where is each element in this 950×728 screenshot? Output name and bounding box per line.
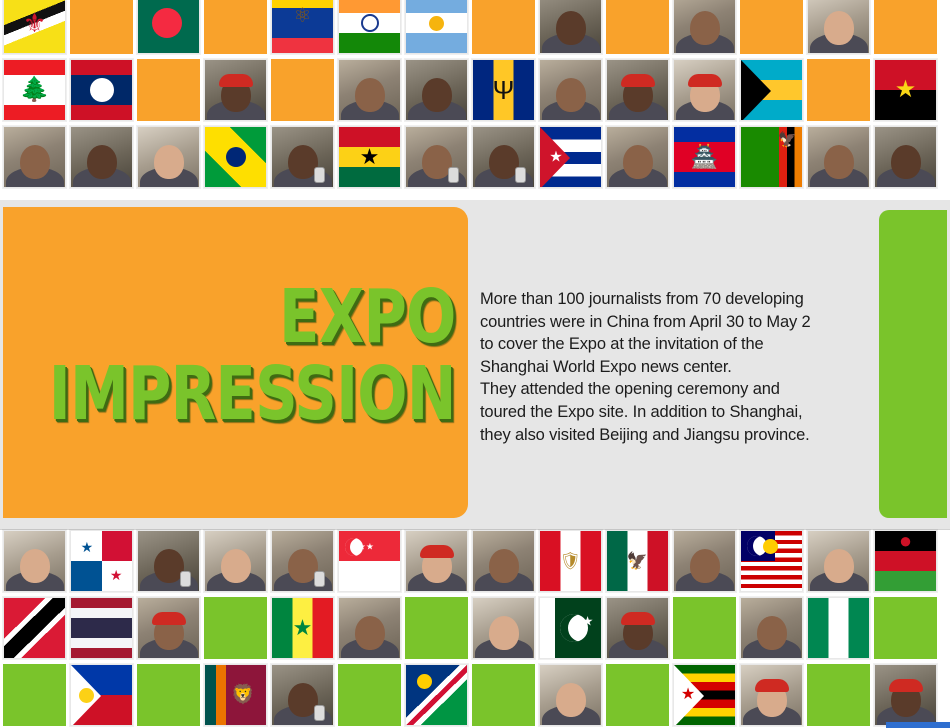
mosaic-tile-placeholder[interactable] <box>606 664 669 726</box>
flag-tile-mexico[interactable]: 🦅 <box>606 530 669 592</box>
photo-tile-journalist-portrait-cap[interactable] <box>204 59 267 121</box>
flag-tile-philippines[interactable] <box>70 664 133 726</box>
flag-tile-brazil[interactable] <box>204 126 267 188</box>
mosaic-tile-placeholder[interactable] <box>472 664 535 726</box>
flag-tile-cuba[interactable]: ★ <box>539 126 602 188</box>
banner-body-text: More than 100 journalists from 70 develo… <box>480 288 858 446</box>
flag-tile-barbados[interactable]: Ψ <box>472 59 535 121</box>
flag-tile-argentina[interactable] <box>405 0 468 54</box>
photo-tile-journalist-portrait[interactable] <box>673 530 736 592</box>
photo-tile-journalist-portrait[interactable] <box>673 0 736 54</box>
mosaic-tile-placeholder[interactable] <box>874 597 937 659</box>
body-line: More than 100 journalists from 70 develo… <box>480 288 858 311</box>
mosaic-tile-placeholder[interactable] <box>204 0 267 54</box>
flag-tile-peru[interactable]: 🛡 <box>539 530 602 592</box>
photo-tile-journalist-portrait[interactable] <box>472 597 535 659</box>
mosaic-tile-placeholder[interactable] <box>338 664 401 726</box>
photo-tile-journalist-portrait-mic[interactable] <box>271 530 334 592</box>
photo-tile-journalist-portrait-cap[interactable] <box>405 530 468 592</box>
mosaic-tile-placeholder[interactable] <box>204 597 267 659</box>
photo-tile-journalist-portrait-mic[interactable] <box>405 126 468 188</box>
photo-tile-journalist-portrait-mic[interactable] <box>472 126 535 188</box>
body-line: They attended the opening ceremony and <box>480 378 858 401</box>
photo-tile-journalist-portrait[interactable] <box>807 126 870 188</box>
body-line: toured the Expo site. In addition to Sha… <box>480 401 858 424</box>
photo-tile-journalist-portrait[interactable] <box>740 597 803 659</box>
banner-title: EXPO IMPRESSION <box>0 279 456 433</box>
photo-tile-journalist-portrait[interactable] <box>807 0 870 54</box>
photo-tile-journalist-portrait[interactable] <box>3 530 66 592</box>
photo-tile-journalist-portrait[interactable] <box>606 126 669 188</box>
flag-tile-sri-lanka[interactable]: 🦁 <box>204 664 267 726</box>
expo-banner: EXPO IMPRESSION More than 100 journalist… <box>0 200 950 530</box>
expo-impression-page: ⚜ ⚛ 🌲 Ψ <box>0 0 950 728</box>
banner-title-line-impression: IMPRESSION <box>49 355 456 433</box>
photo-tile-journalist-portrait[interactable] <box>3 126 66 188</box>
flag-tile-laos[interactable] <box>70 59 133 121</box>
green-accent-bar <box>879 210 947 518</box>
flag-tile-ghana[interactable]: ★ <box>338 126 401 188</box>
flag-tile-thailand[interactable] <box>70 597 133 659</box>
flag-tile-bahamas[interactable] <box>740 59 803 121</box>
flag-tile-zimbabwe[interactable]: ★ <box>673 664 736 726</box>
photo-tile-journalist-portrait-mic[interactable] <box>271 126 334 188</box>
photo-tile-journalist-portrait[interactable] <box>338 597 401 659</box>
title-panel: EXPO IMPRESSION <box>3 207 468 518</box>
photo-tile-journalist-portrait-cap[interactable] <box>137 597 200 659</box>
photo-tile-journalist-portrait[interactable] <box>405 59 468 121</box>
mosaic-tile-placeholder[interactable] <box>740 0 803 54</box>
flag-tile-senegal[interactable]: ★ <box>271 597 334 659</box>
mosaic-tile-placeholder[interactable] <box>673 597 736 659</box>
photo-tile-journalist-portrait[interactable] <box>204 530 267 592</box>
flag-tile-brunei[interactable]: ⚜ <box>3 0 66 54</box>
photo-tile-journalist-portrait-cap[interactable] <box>606 59 669 121</box>
photo-tile-journalist-portrait[interactable] <box>137 126 200 188</box>
photo-tile-journalist-portrait-mic[interactable] <box>271 664 334 726</box>
flag-tile-trinidad-and-tobago[interactable] <box>3 597 66 659</box>
photo-tile-journalist-portrait[interactable] <box>539 59 602 121</box>
mosaic-tile-placeholder[interactable] <box>137 664 200 726</box>
mosaic-tile-placeholder[interactable] <box>70 0 133 54</box>
flag-tile-namibia[interactable] <box>405 664 468 726</box>
flag-tile-pakistan[interactable]: ★ <box>539 597 602 659</box>
flag-tile-zambia[interactable]: 🦅 <box>740 126 803 188</box>
mosaic-grid-bottom: ★ ★ ★★ 🛡 🦅 <box>0 530 950 726</box>
mosaic-tile-placeholder[interactable] <box>472 0 535 54</box>
photo-tile-journalist-portrait[interactable] <box>874 126 937 188</box>
photo-tile-journalist-portrait[interactable] <box>70 126 133 188</box>
flag-tile-bangladesh[interactable] <box>137 0 200 54</box>
mosaic-grid-top: ⚜ ⚛ 🌲 Ψ <box>0 0 950 188</box>
flag-tile-india[interactable] <box>338 0 401 54</box>
flag-tile-cambodia[interactable]: 🏯 <box>673 126 736 188</box>
mosaic-tile-placeholder[interactable] <box>137 59 200 121</box>
photo-tile-journalist-portrait-cap[interactable] <box>673 59 736 121</box>
flag-tile-malaysia[interactable] <box>740 530 803 592</box>
mosaic-tile-placeholder[interactable] <box>606 0 669 54</box>
mosaic-tile-placeholder[interactable] <box>3 664 66 726</box>
mosaic-tile-placeholder[interactable] <box>807 59 870 121</box>
flag-tile-nigeria[interactable] <box>807 597 870 659</box>
flag-tile-ecuador[interactable]: ⚛ <box>271 0 334 54</box>
flag-tile-malawi[interactable]: ● <box>874 530 937 592</box>
mosaic-tile-placeholder[interactable] <box>807 664 870 726</box>
body-line: Shanghai World Expo news center. <box>480 356 858 379</box>
mosaic-tile-placeholder[interactable] <box>874 0 937 54</box>
photo-tile-journalist-portrait-cap[interactable] <box>874 664 937 726</box>
mosaic-tile-placeholder[interactable] <box>271 59 334 121</box>
photo-tile-journalist-portrait[interactable] <box>472 530 535 592</box>
mosaic-tile-placeholder[interactable] <box>405 597 468 659</box>
body-line: to cover the Expo at the invitation of t… <box>480 333 858 356</box>
flag-tile-singapore[interactable]: ★★ <box>338 530 401 592</box>
photo-tile-journalist-portrait[interactable] <box>539 664 602 726</box>
photo-tile-journalist-portrait[interactable] <box>539 0 602 54</box>
photo-tile-journalist-portrait-cap[interactable] <box>740 664 803 726</box>
photo-tile-journalist-portrait-mic[interactable] <box>137 530 200 592</box>
flag-tile-lebanon[interactable]: 🌲 <box>3 59 66 121</box>
photo-tile-journalist-portrait[interactable] <box>338 59 401 121</box>
body-line: they also visited Beijing and Jiangsu pr… <box>480 424 858 447</box>
flag-tile-angola[interactable]: ★ <box>874 59 937 121</box>
body-line: countries were in China from April 30 to… <box>480 311 858 334</box>
scrollbar-thumb[interactable] <box>886 722 950 728</box>
photo-tile-journalist-portrait[interactable] <box>807 530 870 592</box>
flag-tile-panama[interactable]: ★ ★ <box>70 530 133 592</box>
banner-title-line-expo: EXPO <box>49 279 456 355</box>
photo-tile-journalist-portrait-cap[interactable] <box>606 597 669 659</box>
